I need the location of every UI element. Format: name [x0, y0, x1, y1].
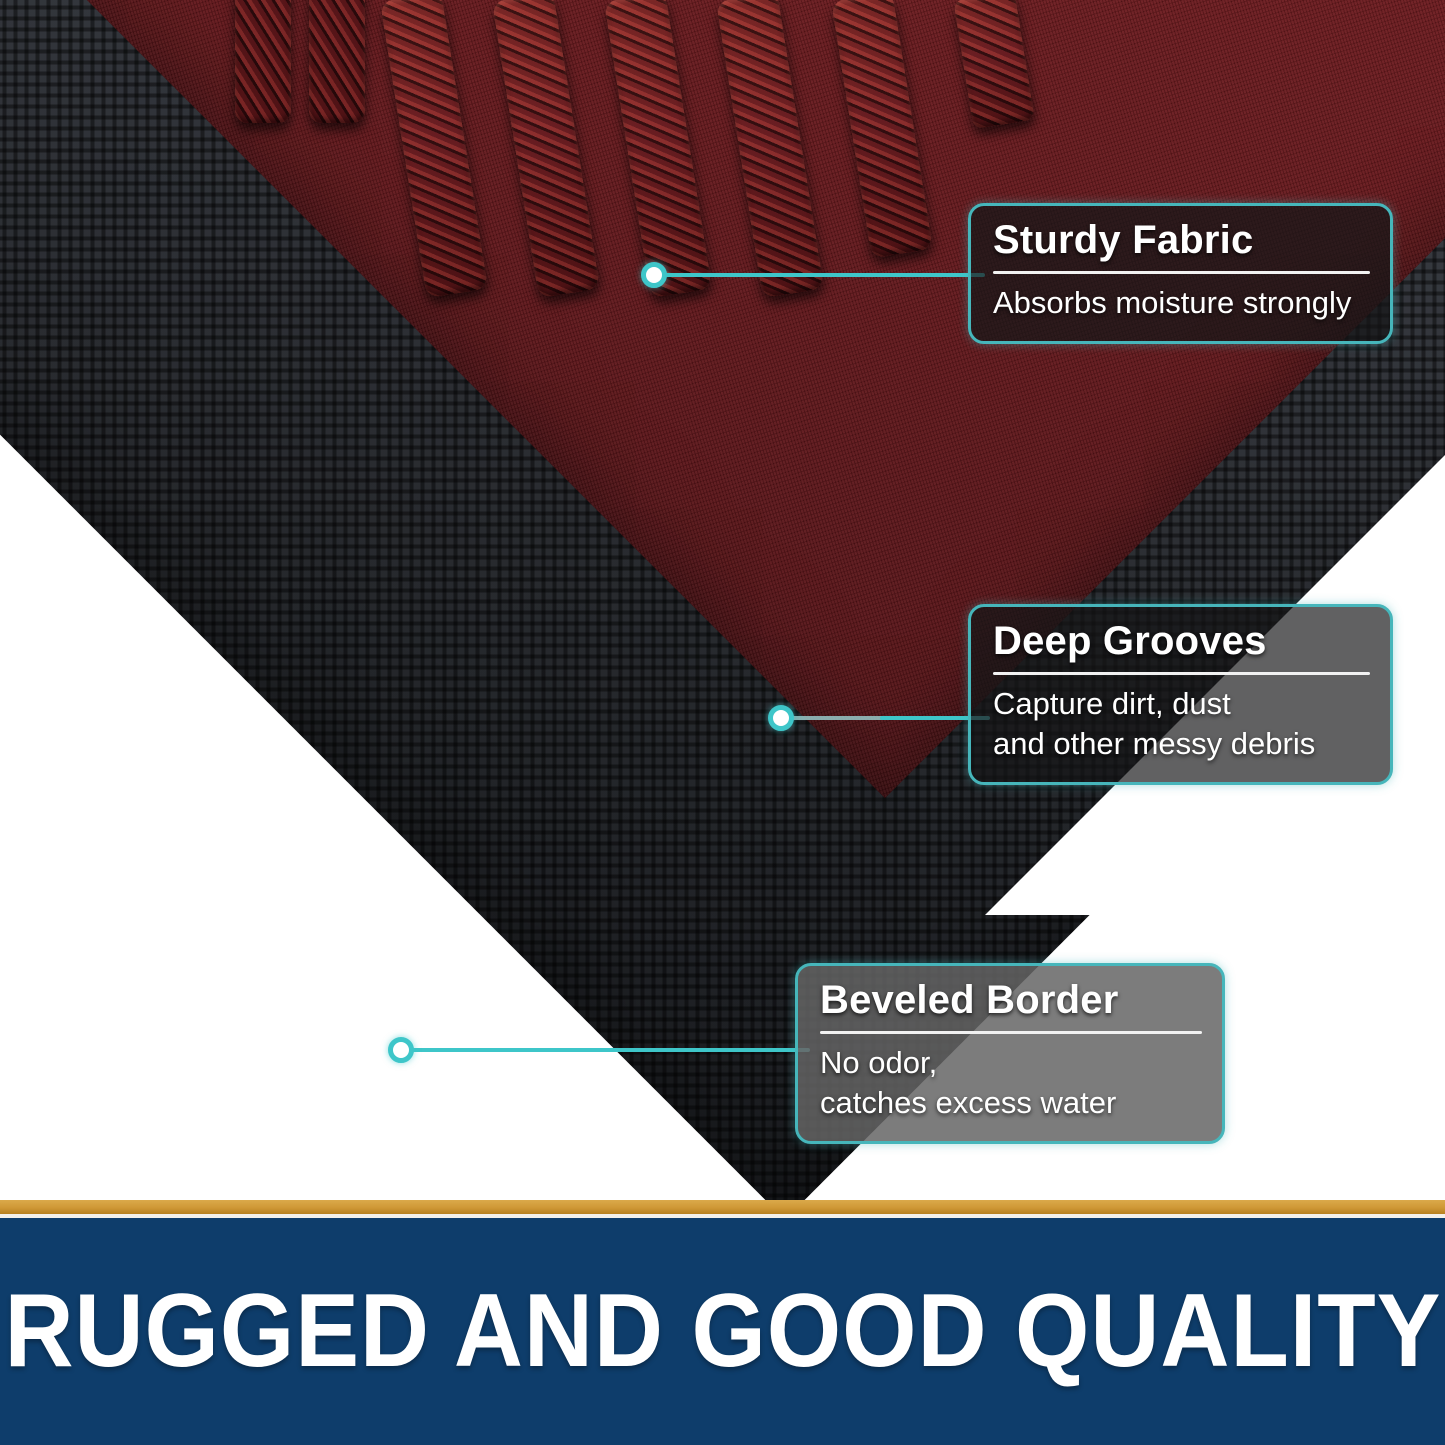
- callout-title-deep-grooves: Deep Grooves: [993, 621, 1370, 663]
- leader-dot-deep-grooves: [768, 705, 794, 731]
- callout-line-deep-grooves-0: Capture dirt, dust: [993, 684, 1370, 724]
- callout-title-beveled-border: Beveled Border: [820, 980, 1202, 1022]
- callout-deep-grooves: Deep Grooves Capture dirt, dust and othe…: [968, 604, 1393, 785]
- background-wedge-bottom-left: [0, 890, 500, 1200]
- callout-sturdy-fabric: Sturdy Fabric Absorbs moisture strongly: [968, 203, 1393, 344]
- headline-banner: RUGGED AND GOOD QUALITY: [0, 1218, 1445, 1445]
- leader-dot-sturdy-fabric: [641, 262, 667, 288]
- callout-divider-beveled-border: [820, 1031, 1202, 1034]
- callout-title-sturdy-fabric: Sturdy Fabric: [993, 220, 1370, 262]
- callout-beveled-border: Beveled Border No odor, catches excess w…: [795, 963, 1225, 1144]
- callout-line-sturdy-fabric-0: Absorbs moisture strongly: [993, 283, 1370, 323]
- leader-line-deep-grooves-a: [792, 716, 892, 720]
- callout-divider-deep-grooves: [993, 672, 1370, 675]
- gold-divider-stripe: [0, 1200, 1445, 1214]
- callout-line-beveled-border-1: catches excess water: [820, 1083, 1202, 1123]
- callout-line-beveled-border-0: No odor,: [820, 1043, 1202, 1083]
- infographic-root: Sturdy Fabric Absorbs moisture strongly …: [0, 0, 1445, 1445]
- callout-divider-sturdy-fabric: [993, 271, 1370, 274]
- callout-line-deep-grooves-1: and other messy debris: [993, 724, 1370, 764]
- leader-dot-beveled-border: [388, 1037, 414, 1063]
- headline-text: RUGGED AND GOOD QUALITY: [4, 1272, 1441, 1391]
- product-photo: Sturdy Fabric Absorbs moisture strongly …: [0, 0, 1445, 1200]
- leader-line-sturdy-fabric: [660, 273, 985, 277]
- leader-line-beveled-border: [410, 1048, 810, 1052]
